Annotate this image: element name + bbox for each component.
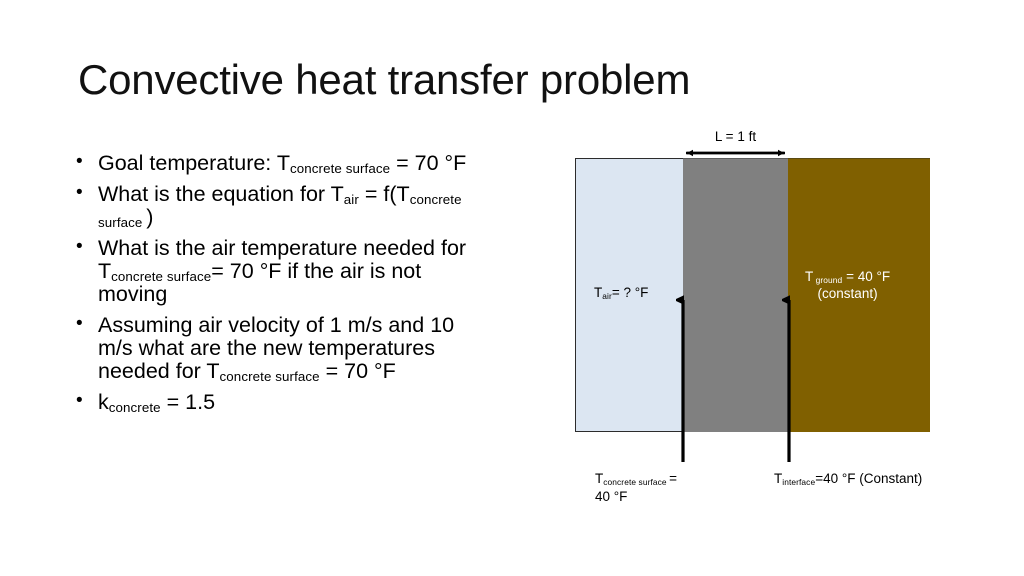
bullet-marker-icon: • (76, 237, 83, 258)
list-item-goal-temperature: • Goal temperature: Tconcrete surface = … (72, 152, 492, 175)
flux-arrow-left-icon (676, 288, 690, 464)
list-item-k-concrete: • kconcrete = 1.5 (72, 391, 492, 414)
list-item-text: What is the air temperature needed for T… (98, 237, 492, 306)
list-item-air-velocity-cases: • Assuming air velocity of 1 m/s and 10 … (72, 314, 492, 383)
bullet-marker-icon: • (76, 183, 83, 204)
ground-temperature-qualifier: (constant) (805, 286, 890, 303)
list-item-text: What is the equation for Tair = f(Tconcr… (98, 183, 492, 229)
air-region: Tair= ? °F (575, 158, 683, 432)
list-item-air-temperature-not-moving: • What is the air temperature needed for… (72, 237, 492, 306)
bullet-marker-icon: • (76, 391, 83, 412)
callout-concrete-surface-temperature: Tconcrete surface =40 °F (595, 470, 677, 506)
bullet-marker-icon: • (76, 152, 83, 173)
ground-region: T ground = 40 °F (constant) (788, 158, 930, 432)
ground-temperature-label: T ground = 40 °F (constant) (805, 269, 890, 303)
list-item-text: kconcrete = 1.5 (98, 391, 492, 414)
callout-interface-temperature: Tinterface=40 °F (Constant) (774, 470, 922, 488)
list-item-text: Goal temperature: Tconcrete surface = 70… (98, 152, 492, 175)
dimension-label-L: L = 1 ft (683, 129, 788, 144)
bullet-list: • Goal temperature: Tconcrete surface = … (72, 152, 492, 422)
concrete-slab (683, 158, 788, 432)
list-item-equation-for-tair: • What is the equation for Tair = f(Tcon… (72, 183, 492, 229)
page-title: Convective heat transfer problem (78, 56, 690, 104)
air-temperature-label: Tair= ? °F (594, 285, 648, 302)
bullet-marker-icon: • (76, 314, 83, 335)
heat-transfer-diagram: L = 1 ft T ground = 40 °F (constant) Tai… (560, 120, 1010, 520)
ground-temperature-value: T ground = 40 °F (805, 269, 890, 284)
list-item-text: Assuming air velocity of 1 m/s and 10 m/… (98, 314, 492, 383)
flux-arrow-right-icon (782, 288, 796, 464)
